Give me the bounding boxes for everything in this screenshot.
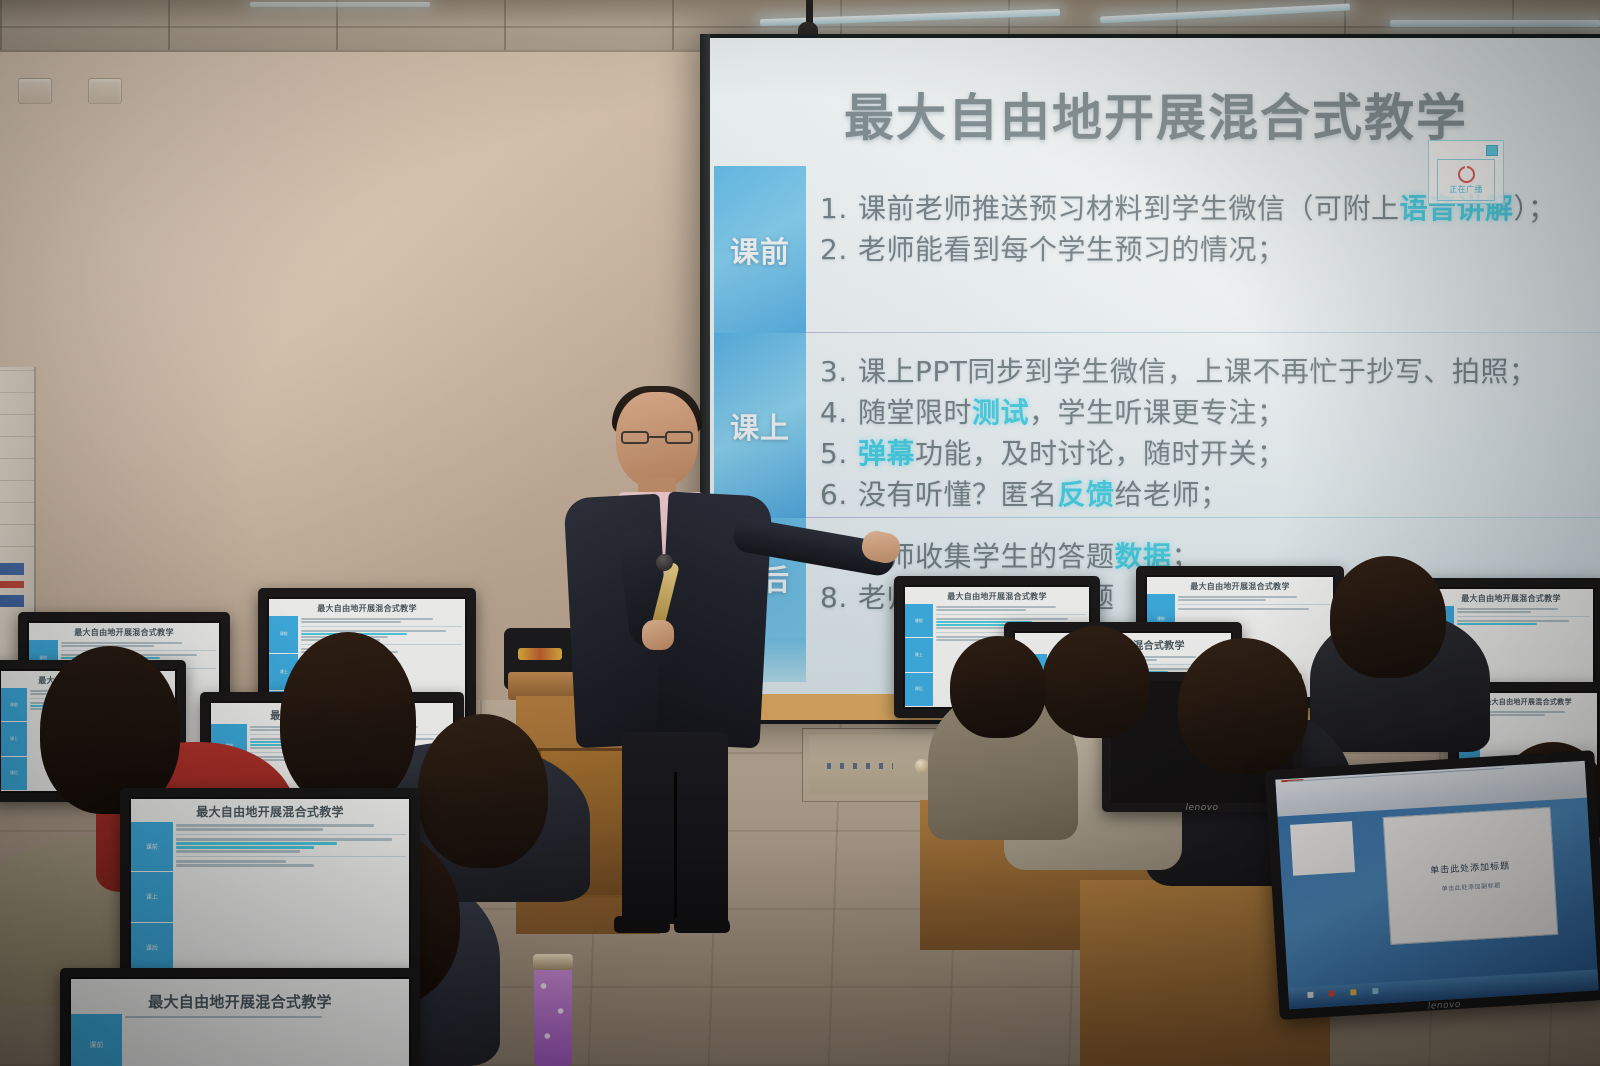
ceiling-light [250, 2, 430, 7]
monitor-slide-title: 最大自由地开展混合式教学 [269, 599, 465, 616]
monitor-slide-title: 最大自由地开展混合式教学 [71, 979, 409, 1014]
monitor-rail-label: 课后 [131, 923, 173, 973]
ribbon-bar[interactable] [1288, 767, 1505, 782]
list-text: 老师能看到每个学生预习的情况； [858, 229, 1286, 270]
list-item: 5. 弹幕功能，及时讨论，随时开关； [820, 433, 1598, 474]
slide-subtitle-placeholder[interactable]: 单击此处添加副标题 [1441, 880, 1501, 893]
desktop-monitor: 单击此处添加标题 单击此处添加副标题 lenovo [1265, 750, 1600, 1020]
list-number: 2. [820, 229, 858, 270]
student-monitor: 最大自由地开展混合式教学 课前 课上 课后 [120, 788, 420, 984]
door-notice-tag [0, 595, 24, 607]
monitor-rail-label: 课前 [131, 822, 173, 872]
door-notice-tag [0, 581, 24, 588]
broadcast-badge-inner: 正在广播 [1437, 159, 1495, 201]
list-item: 3. 课上PPT同步到学生微信，上课不再忙于抄写、拍照； [820, 351, 1598, 392]
power-circle-icon[interactable] [1458, 166, 1475, 183]
wall-fixture [88, 78, 122, 104]
monitor-rail: 课前 课上 课后 [905, 604, 933, 707]
door-notice-tag [0, 563, 24, 575]
presenter-leg-split [674, 772, 677, 922]
list-number: 1. [820, 188, 858, 229]
student-monitor: 最大自由地开展混合式教学 课前 [60, 968, 420, 1066]
monitor-slide-title: 最大自由地开展混合式教学 [29, 623, 219, 640]
taskbar-icon[interactable] [1372, 988, 1378, 994]
taskbar-icon[interactable] [1307, 992, 1313, 998]
monitor-slide-title: 最大自由地开展混合式教学 [1147, 577, 1333, 594]
list-text: 课上PPT同步到学生微信，上课不再忙于抄写、拍照； [858, 351, 1537, 392]
monitor-mirrored-slide: 最大自由地开展混合式教学 课前 课上 课后 [131, 799, 409, 973]
monitor-rail-label: 课前 [71, 1014, 122, 1066]
monitor-brand-label: lenovo [1428, 1000, 1462, 1012]
list-item: 6. 没有听懂？匿名反馈给老师； [820, 474, 1598, 515]
thermos-bottle [534, 966, 572, 1066]
list-item: 2. 老师能看到每个学生预习的情况； [820, 229, 1598, 270]
monitor-slide-title: 最大自由地开展混合式教学 [1429, 589, 1593, 606]
monitor-rail-label: 课前 [269, 616, 298, 654]
list-text: 功能，及时讨论，随时开关； [915, 433, 1286, 474]
thermos-cap [533, 954, 573, 970]
monitor-rows [122, 1014, 409, 1066]
student-head [418, 714, 548, 868]
desktop-screen: 单击此处添加标题 单击此处添加副标题 [1275, 761, 1598, 1009]
taskbar-icon[interactable] [1350, 989, 1356, 995]
slide-thumbnail-pane[interactable] [1290, 821, 1355, 875]
student-head [950, 636, 1046, 738]
section-in-class: 3. 课上PPT同步到学生微信，上课不再忙于抄写、拍照； 4. 随堂限时测试，学… [820, 333, 1598, 518]
monitor-rail: 课前 课上 课后 [131, 822, 173, 973]
wall-fixture [18, 78, 52, 104]
monitor-rail-label: 课后 [905, 673, 933, 707]
monitor-mirrored-slide: 最大自由地开展混合式教学 课前 [71, 979, 409, 1066]
list-number: 3. [820, 351, 858, 392]
presenter [566, 392, 896, 937]
broadcast-label: 正在广播 [1449, 184, 1483, 195]
list-text: 给老师； [1115, 474, 1229, 515]
monitor-brand-label: lenovo [1185, 803, 1218, 813]
door-panel-lines [0, 367, 36, 547]
podium-sticker [518, 648, 562, 660]
list-text: 课前老师推送预习材料到学生微信（可附上 [858, 188, 1400, 229]
presenter-shoe [674, 916, 730, 933]
monitor-rail-label: 课后 [1, 757, 27, 791]
slide-canvas[interactable]: 单击此处添加标题 单击此处添加副标题 [1383, 807, 1558, 946]
student-head [1178, 638, 1308, 774]
list-text: ）； [1514, 188, 1557, 229]
monitor-rail-label: 课前 [905, 604, 933, 638]
monitor-rows [173, 822, 409, 973]
rail-label-before-class: 课前 [714, 166, 806, 333]
classroom-photo-scene: 最大自由地开展混合式教学 课前 课上 课后 1. 课前老师推送预习材料到学生微信… [0, 0, 1600, 1066]
monitor-slide-title: 最大自由地开展混合式教学 [905, 587, 1089, 604]
student-head [280, 632, 416, 808]
list-text-highlight: 反馈 [1058, 474, 1115, 515]
broadcast-status-badge[interactable]: 正在广播 [1428, 140, 1504, 204]
glasses-icon [621, 428, 693, 444]
minimize-icon[interactable] [1486, 145, 1498, 156]
monitor-rail-label: 课上 [131, 872, 173, 922]
monitor-rail-label: 课上 [1, 722, 27, 756]
monitor-slide-title: 最大自由地开展混合式教学 [131, 799, 409, 822]
list-item: 4. 随堂限时测试，学生听课更专注； [820, 392, 1598, 433]
taskbar-icon[interactable] [1329, 990, 1335, 996]
control-panel-knob[interactable] [915, 759, 929, 773]
slide-title-placeholder[interactable]: 单击此处添加标题 [1430, 859, 1511, 877]
list-text: ，学生听课更专注； [1029, 392, 1286, 433]
student-head [1330, 556, 1446, 678]
student-head [1042, 626, 1150, 738]
monitor-rail: 课前 [71, 1014, 122, 1066]
presenter-legs [622, 732, 728, 924]
monitor-rail-label: 课上 [905, 638, 933, 672]
monitor-rail-label: 课前 [1, 688, 27, 722]
ceiling-light [1390, 20, 1600, 27]
list-text-highlight: 测试 [972, 392, 1029, 433]
presenter-shoe [614, 916, 670, 933]
presenter-left-hand [642, 620, 674, 650]
monitor-rail: 课前 课上 课后 [1, 688, 27, 791]
